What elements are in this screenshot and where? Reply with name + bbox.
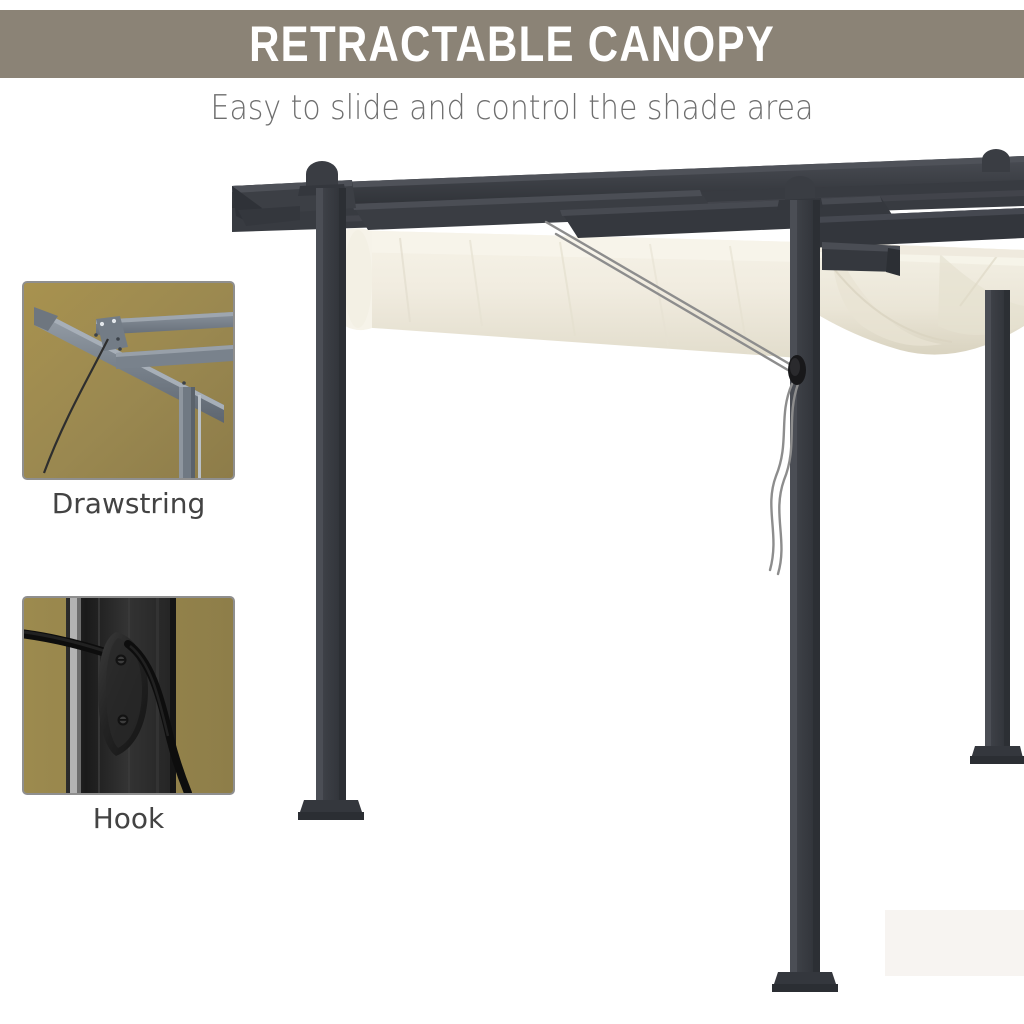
inset-photo-hook (22, 596, 235, 795)
retractable-fabric-canopy (344, 228, 1024, 358)
pergola-svg (0, 130, 1024, 1024)
drawstring-closeup-svg (24, 283, 233, 478)
subtitle-text: Easy to slide and control the shade area (61, 88, 962, 128)
post-base-plate (970, 746, 1024, 764)
inset-caption-drawstring: Drawstring (16, 488, 241, 520)
header-banner: RETRACTABLE CANOPY (0, 10, 1024, 78)
inset-caption-hook: Hook (16, 803, 241, 835)
post-base-plate (298, 800, 364, 820)
post-base-plate (772, 972, 838, 992)
page-title: RETRACTABLE CANOPY (249, 19, 775, 69)
hook-closeup-svg (24, 598, 233, 793)
rear-right-post (970, 290, 1024, 764)
product-illustration (0, 130, 1024, 1024)
inset-photo-drawstring (22, 281, 235, 480)
cropped-canopy-edge (885, 910, 1024, 976)
product-marketing-image: RETRACTABLE CANOPY Easy to slide and con… (0, 0, 1024, 1024)
hook-cleat (788, 355, 806, 385)
